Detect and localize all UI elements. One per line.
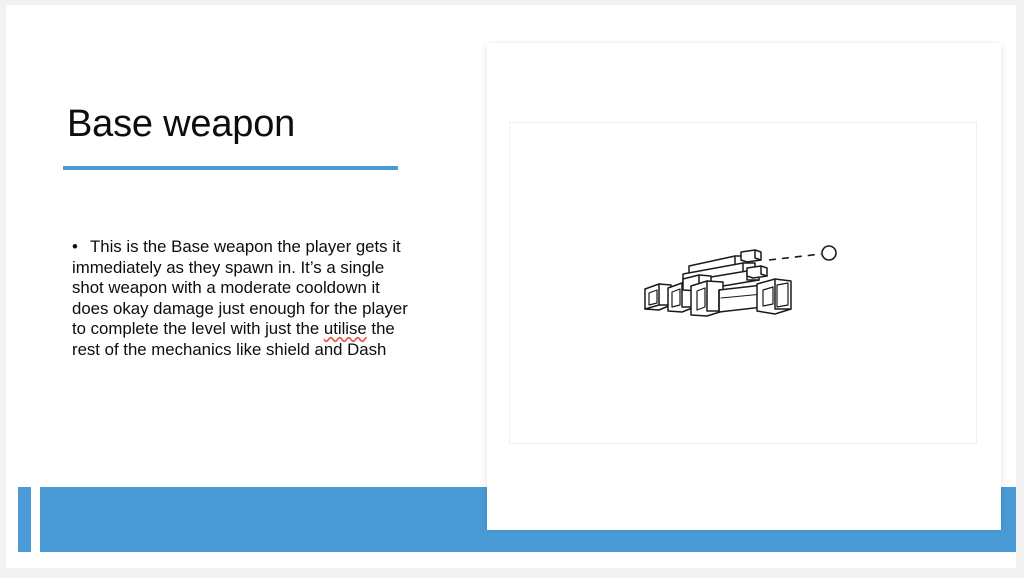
weapon-sketch-image [643, 243, 843, 323]
misspelled-word[interactable]: utilise [324, 319, 367, 338]
accent-bar-small [18, 487, 31, 552]
title-underline-rule [63, 166, 398, 170]
body-text-block[interactable]: •This is the Base weapon the player gets… [72, 237, 418, 361]
page-gutter: Base weapon •This is the Base weapon the… [0, 0, 1024, 578]
projectile-trail-icon [769, 254, 821, 260]
picture-panel[interactable] [487, 43, 1001, 530]
projectile-icon [822, 246, 836, 260]
picture-frame[interactable] [509, 122, 977, 444]
bullet-icon: • [72, 237, 90, 258]
page-title[interactable]: Base weapon [67, 101, 295, 147]
slide-canvas[interactable]: Base weapon •This is the Base weapon the… [6, 5, 1016, 568]
